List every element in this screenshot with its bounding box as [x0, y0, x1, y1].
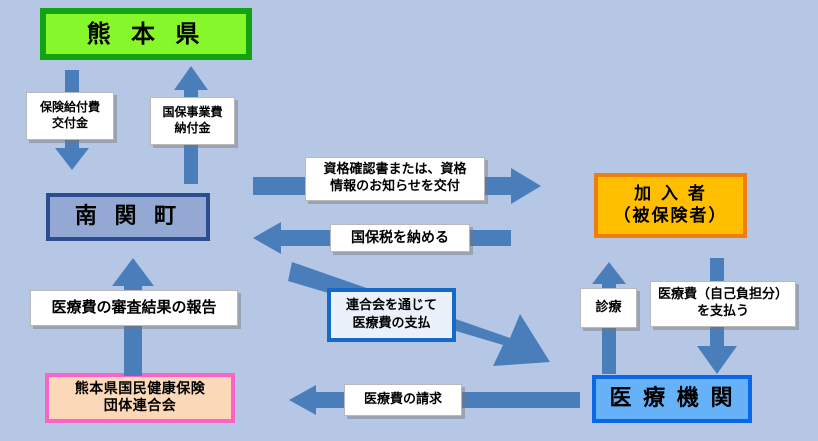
- caption-insurance-benefit-grant: 保険給付費 交付金: [26, 92, 114, 140]
- caption-medical-treatment: 診療: [580, 288, 637, 328]
- node-town[interactable]: 南 関 町: [46, 193, 210, 241]
- node-medical-institution[interactable]: 医 療 機 関: [592, 375, 752, 423]
- caption-national-insurance-business-levy: 国保事業費 納付金: [150, 97, 235, 145]
- caption-pay-copayment: 医療費（自己負担分） を支払う: [650, 281, 796, 327]
- node-insured-person[interactable]: 加 入 者 （被保険者）: [594, 173, 747, 238]
- node-federation[interactable]: 熊本県国民健康保険 団体連合会: [45, 373, 235, 423]
- caption-medical-cost-review-report: 医療費の審査結果の報告: [30, 290, 238, 326]
- caption-eligibility-certificate-issue: 資格確認書または、資格 情報のお知らせを交付: [305, 157, 485, 201]
- caption-pay-insurance-tax: 国保税を納める: [330, 224, 470, 252]
- node-prefecture[interactable]: 熊 本 県: [40, 8, 252, 60]
- diagram-canvas: 熊 本 県 南 関 町 熊本県国民健康保険 団体連合会 加 入 者 （被保険者）…: [0, 0, 818, 441]
- caption-medical-cost-claim: 医療費の請求: [344, 384, 462, 416]
- caption-payment-via-federation: 連合会を通じて 医療費の支払: [327, 288, 456, 342]
